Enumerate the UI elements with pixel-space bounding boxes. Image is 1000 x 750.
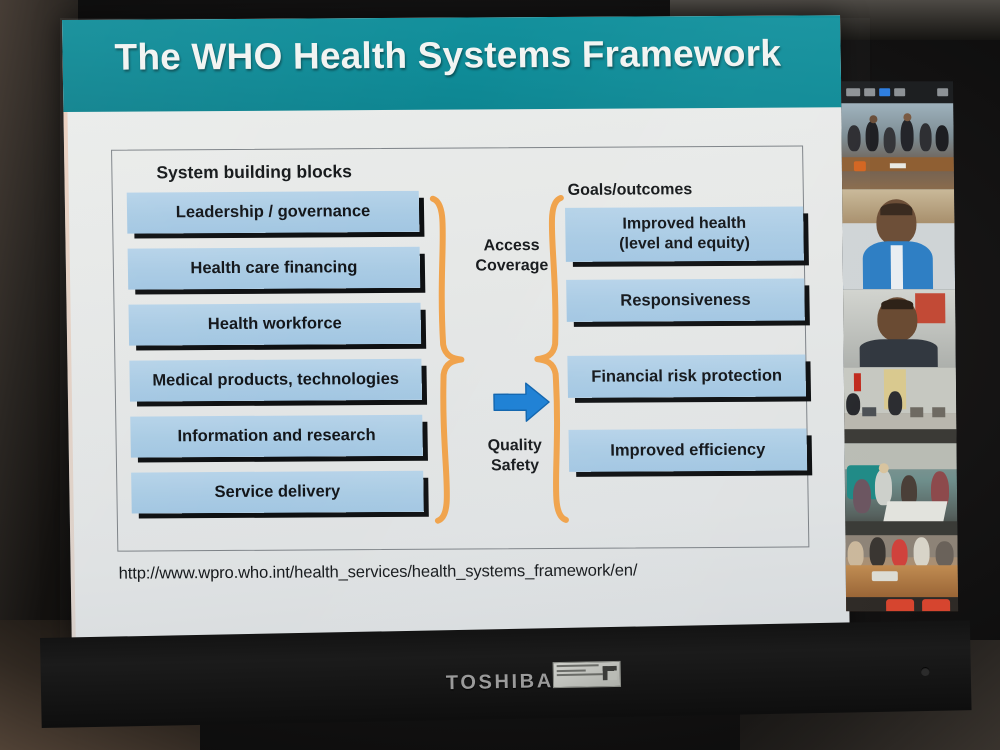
person-shape xyxy=(865,121,878,151)
page-title: The WHO Health Systems Framework xyxy=(114,32,815,78)
goal-block-financial-risk-protection[interactable]: Financial risk protection xyxy=(567,354,806,397)
person-shape xyxy=(884,127,896,153)
red-chair-shape xyxy=(922,599,950,611)
block-label: Health workforce xyxy=(208,314,342,335)
sticker-line xyxy=(557,664,599,667)
thumbnail-view-icon[interactable] xyxy=(894,88,905,96)
person-shape xyxy=(935,541,953,567)
sticker-line xyxy=(557,673,605,676)
center-label-access-coverage: Access Coverage xyxy=(463,236,560,276)
active-view-icon[interactable] xyxy=(879,88,890,96)
coverage-line: Coverage xyxy=(475,257,548,274)
safety-line: Safety xyxy=(491,457,539,474)
laptop-shape xyxy=(862,407,876,416)
red-chair-shape xyxy=(886,599,914,611)
head-shape xyxy=(903,113,911,121)
person-shape xyxy=(900,119,913,151)
participant-tile-1[interactable] xyxy=(841,103,954,189)
goal-block-responsiveness[interactable]: Responsiveness xyxy=(566,278,805,321)
block-label: Financial risk protection xyxy=(591,366,782,387)
left-brace-icon xyxy=(429,195,468,525)
block-label: Leadership / governance xyxy=(176,202,371,223)
sticker-line xyxy=(557,669,586,672)
goal-block-improved-efficiency[interactable]: Improved efficiency xyxy=(569,428,808,471)
person-shape xyxy=(935,125,948,151)
hair-shape xyxy=(881,299,913,309)
participant-tile-6[interactable] xyxy=(845,535,958,611)
fullscreen-icon[interactable] xyxy=(937,88,948,96)
toolbar-spacer xyxy=(909,88,933,96)
tv-screen: The WHO Health Systems Framework System … xyxy=(62,15,872,680)
goal-block-improved-health[interactable]: Improved health (level and equity) xyxy=(565,206,804,261)
person-shape xyxy=(919,123,931,151)
block-label: Information and research xyxy=(177,426,375,447)
right-arrow-icon xyxy=(492,380,553,424)
head-shape xyxy=(879,463,889,473)
fire-extinguisher-shape xyxy=(854,373,861,391)
goal-line2: (level and equity) xyxy=(619,235,750,253)
person-shape xyxy=(847,125,860,151)
block-label: Improved efficiency xyxy=(610,440,765,461)
torso-shape xyxy=(860,339,938,367)
video-conference-sidebar xyxy=(841,81,958,611)
right-column-heading: Goals/outcomes xyxy=(568,181,693,200)
block-label: Health care financing xyxy=(190,258,357,279)
quality-line: Quality xyxy=(487,437,542,454)
barcode-icon xyxy=(603,666,617,680)
flow-arrow xyxy=(492,380,553,429)
person-shape xyxy=(888,391,902,415)
collar-shape xyxy=(891,245,903,289)
table-shape xyxy=(883,501,947,523)
source-url[interactable]: http://www.wpro.who.int/health_services/… xyxy=(119,561,638,583)
poster-shape xyxy=(915,293,945,323)
device-label-sticker xyxy=(553,661,621,688)
left-column-heading: System building blocks xyxy=(156,161,352,183)
gallery-view-icon[interactable] xyxy=(864,88,875,96)
participant-tile-5[interactable] xyxy=(845,443,958,535)
building-block-health-care-financing[interactable]: Health care financing xyxy=(128,247,421,290)
person-shape xyxy=(853,479,871,513)
participant-tile-4[interactable] xyxy=(844,367,957,443)
bag-shape xyxy=(854,161,866,171)
floor-shape xyxy=(844,429,956,443)
building-block-health-workforce[interactable]: Health workforce xyxy=(128,303,421,346)
person-shape xyxy=(913,537,929,567)
tv-bottom-bezel: TOSHIBA xyxy=(40,620,972,728)
presentation-slide: The WHO Health Systems Framework System … xyxy=(62,15,850,655)
person-shape xyxy=(875,469,892,505)
block-label: Medical products, technologies xyxy=(152,369,399,391)
block-label: Responsiveness xyxy=(620,290,751,311)
head-shape xyxy=(869,115,877,123)
participant-tile-3[interactable] xyxy=(843,289,956,367)
projected-slide-photo: The WHO Health Systems Framework System … xyxy=(0,0,1000,750)
person-shape xyxy=(846,393,860,415)
toshiba-brand-logo: TOSHIBA xyxy=(446,670,554,695)
person-shape xyxy=(869,537,885,567)
video-view-toolbar[interactable] xyxy=(841,81,953,103)
center-label-quality-safety: Quality Safety xyxy=(467,436,564,476)
person-shape xyxy=(891,539,907,567)
block-label: Improved health (level and equity) xyxy=(619,214,750,254)
participant-tile-2[interactable] xyxy=(842,189,955,289)
chair-shape xyxy=(910,407,923,417)
table-shape xyxy=(846,565,958,597)
diagram-frame: System building blocks Goals/outcomes Le… xyxy=(111,145,809,551)
building-block-leadership-governance[interactable]: Leadership / governance xyxy=(127,191,420,234)
building-block-medical-products-technologies[interactable]: Medical products, technologies xyxy=(129,359,422,402)
speaker-view-icon[interactable] xyxy=(846,88,860,96)
access-line: Access xyxy=(483,237,539,254)
laptop-shape xyxy=(872,571,898,581)
chair-shape xyxy=(932,407,945,417)
power-led-indicator xyxy=(921,667,930,676)
person-shape xyxy=(847,541,863,567)
block-label: Service delivery xyxy=(214,482,340,503)
building-block-information-and-research[interactable]: Information and research xyxy=(130,415,423,458)
building-block-service-delivery[interactable]: Service delivery xyxy=(131,471,424,514)
hair-shape xyxy=(880,203,912,215)
paper-shape xyxy=(890,163,906,168)
goal-line1: Improved health xyxy=(622,215,746,233)
floor-shape xyxy=(845,521,957,535)
